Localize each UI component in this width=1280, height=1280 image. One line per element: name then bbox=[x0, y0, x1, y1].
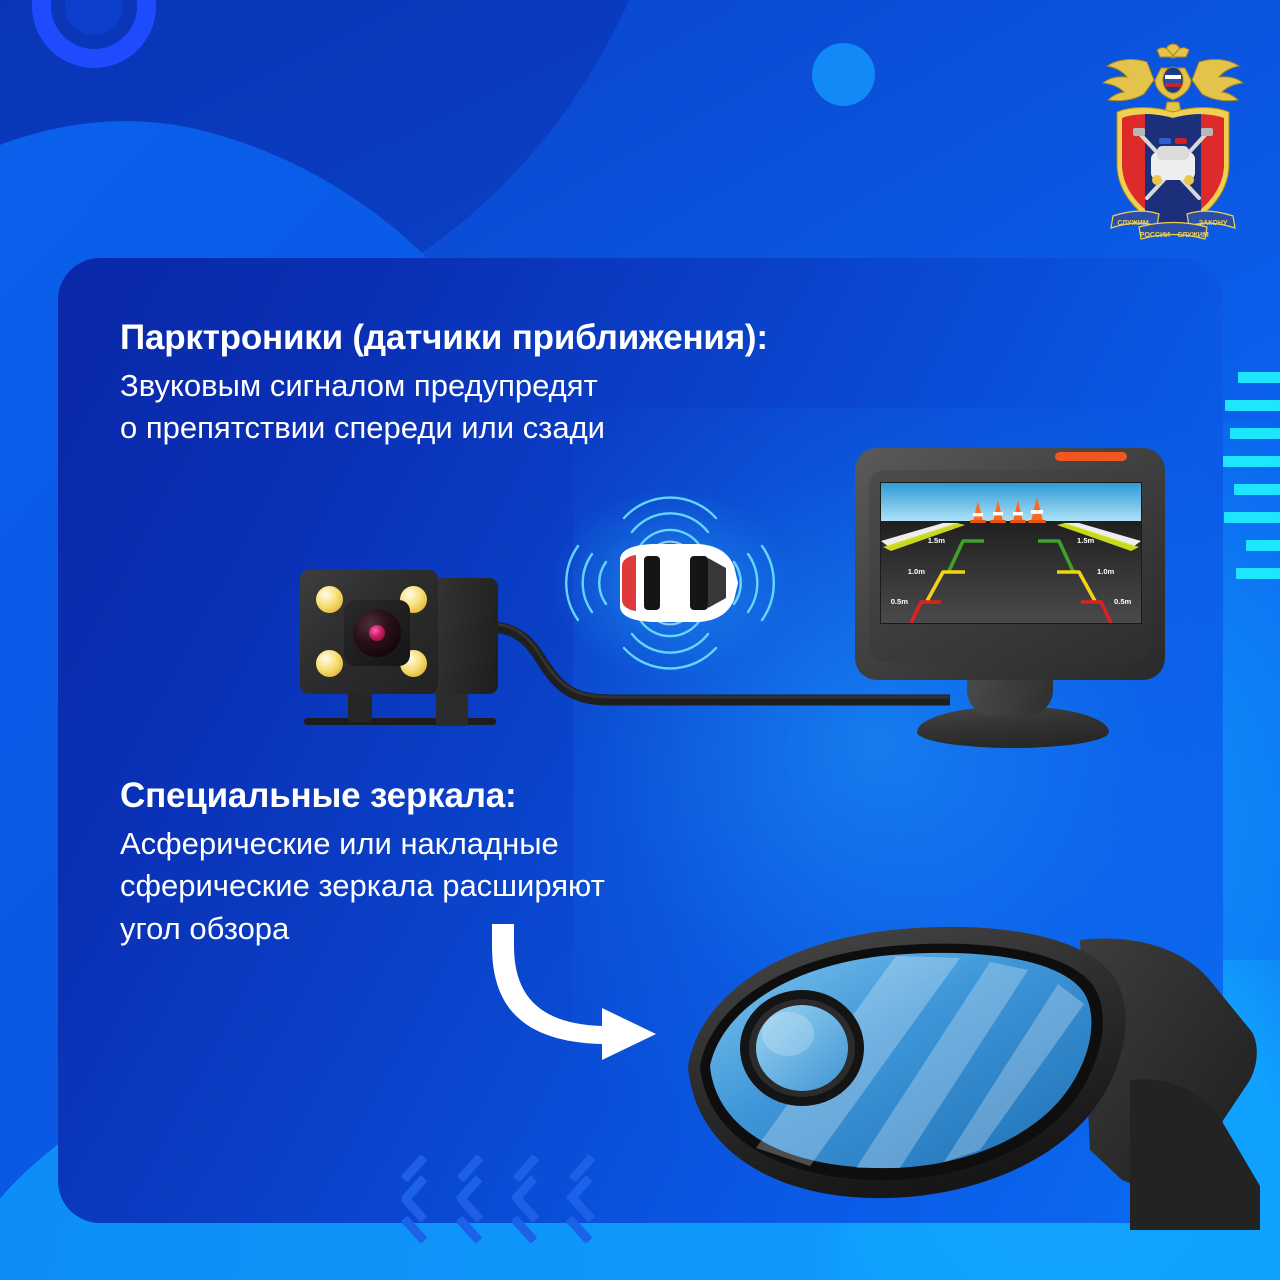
car-top-view-icon bbox=[620, 544, 738, 622]
monitor-screen: 1.5m 1.5m 1.0m 1.0m 0.5m 0.5m bbox=[880, 482, 1142, 624]
guide-label-1_5m-right: 1.5m bbox=[1077, 536, 1095, 545]
camera-stalk-left bbox=[348, 690, 372, 722]
monitor-accent-stripe bbox=[1055, 452, 1127, 461]
guide-label-1_0m-right: 1.0m bbox=[1097, 567, 1115, 576]
section-special-mirrors-line-2: сферические зеркала расширяют bbox=[120, 865, 605, 907]
camera-lens-core bbox=[369, 625, 385, 641]
chevron-group-bottom bbox=[398, 1184, 593, 1236]
chevron-left-icon bbox=[508, 1184, 538, 1236]
monitor-shell: 1.5m 1.5m 1.0m 1.0m 0.5m 0.5m bbox=[855, 448, 1165, 680]
bar-decoration-icon bbox=[1224, 512, 1280, 523]
monitor-screen-content: 1.5m 1.5m 1.0m 1.0m 0.5m 0.5m bbox=[881, 483, 1141, 623]
guide-label-0_5m-left: 0.5m bbox=[891, 597, 909, 606]
spherical-blind-spot-insert bbox=[740, 990, 864, 1106]
camera-led-icon bbox=[316, 586, 343, 613]
camera-front-body bbox=[300, 570, 438, 694]
chevron-left-icon bbox=[398, 1184, 428, 1236]
section-parking-sensors-line-1: Звуковым сигналом предупредят bbox=[120, 365, 768, 407]
section-parking-sensors-text: Парктроники (датчики приближения): Звуко… bbox=[120, 318, 768, 450]
emblem-banner-text-1: СЛУЖИМ bbox=[1117, 220, 1149, 227]
pointing-arrow-icon bbox=[480, 912, 680, 1062]
camera-led-icon bbox=[316, 650, 343, 677]
camera-lens-housing bbox=[344, 600, 410, 666]
circle-decoration-icon bbox=[812, 43, 875, 106]
bar-decoration-icon bbox=[1236, 568, 1280, 579]
sonar-wave-group bbox=[548, 488, 792, 678]
emblem-banner-text-2: ЗАКОНУ bbox=[1199, 220, 1228, 227]
guide-label-1_0m-left: 1.0m bbox=[908, 567, 926, 576]
bar-decoration-icon bbox=[1225, 400, 1280, 411]
parking-assist-monitor: 1.5m 1.5m 1.0m 1.0m 0.5m 0.5m bbox=[855, 448, 1180, 753]
bar-decoration-icon bbox=[1220, 456, 1280, 467]
bar-decoration-icon bbox=[1238, 372, 1280, 383]
section-parking-sensors-headline: Парктроники (датчики приближения): bbox=[120, 318, 768, 358]
russian-traffic-police-emblem: СЛУЖИМ ЗАКОНУ РОССИИ СЛУЖИМ bbox=[1083, 28, 1263, 243]
aspherical-side-mirror bbox=[660, 900, 1260, 1230]
emblem-banner-text-3: РОССИИ bbox=[1140, 232, 1170, 239]
bar-decoration-icon bbox=[1246, 540, 1280, 551]
chevron-left-icon bbox=[453, 1184, 483, 1236]
bar-decoration-group bbox=[1218, 372, 1280, 596]
infographic-root: СЛУЖИМ ЗАКОНУ РОССИИ СЛУЖИМ Парктроники … bbox=[0, 0, 1280, 1280]
bar-decoration-icon bbox=[1234, 484, 1280, 495]
emblem-banner-text-4: СЛУЖИМ bbox=[1177, 232, 1209, 239]
rear-view-camera bbox=[296, 570, 506, 725]
section-parking-sensors-line-2: о препятствии спереди или сзади bbox=[120, 407, 768, 449]
chevron-left-icon bbox=[563, 1184, 593, 1236]
monitor-bezel: 1.5m 1.5m 1.0m 1.0m 0.5m 0.5m bbox=[869, 470, 1151, 662]
section-special-mirrors-headline: Специальные зеркала: bbox=[120, 776, 605, 816]
guide-label-0_5m-right: 0.5m bbox=[1114, 597, 1132, 606]
bar-decoration-icon bbox=[1230, 428, 1280, 439]
section-special-mirrors-line-1: Асферические или накладные bbox=[120, 823, 605, 865]
camera-lens bbox=[353, 609, 401, 657]
car-proximity-sensor-waves bbox=[548, 488, 792, 678]
guide-label-1_5m-left: 1.5m bbox=[928, 536, 946, 545]
